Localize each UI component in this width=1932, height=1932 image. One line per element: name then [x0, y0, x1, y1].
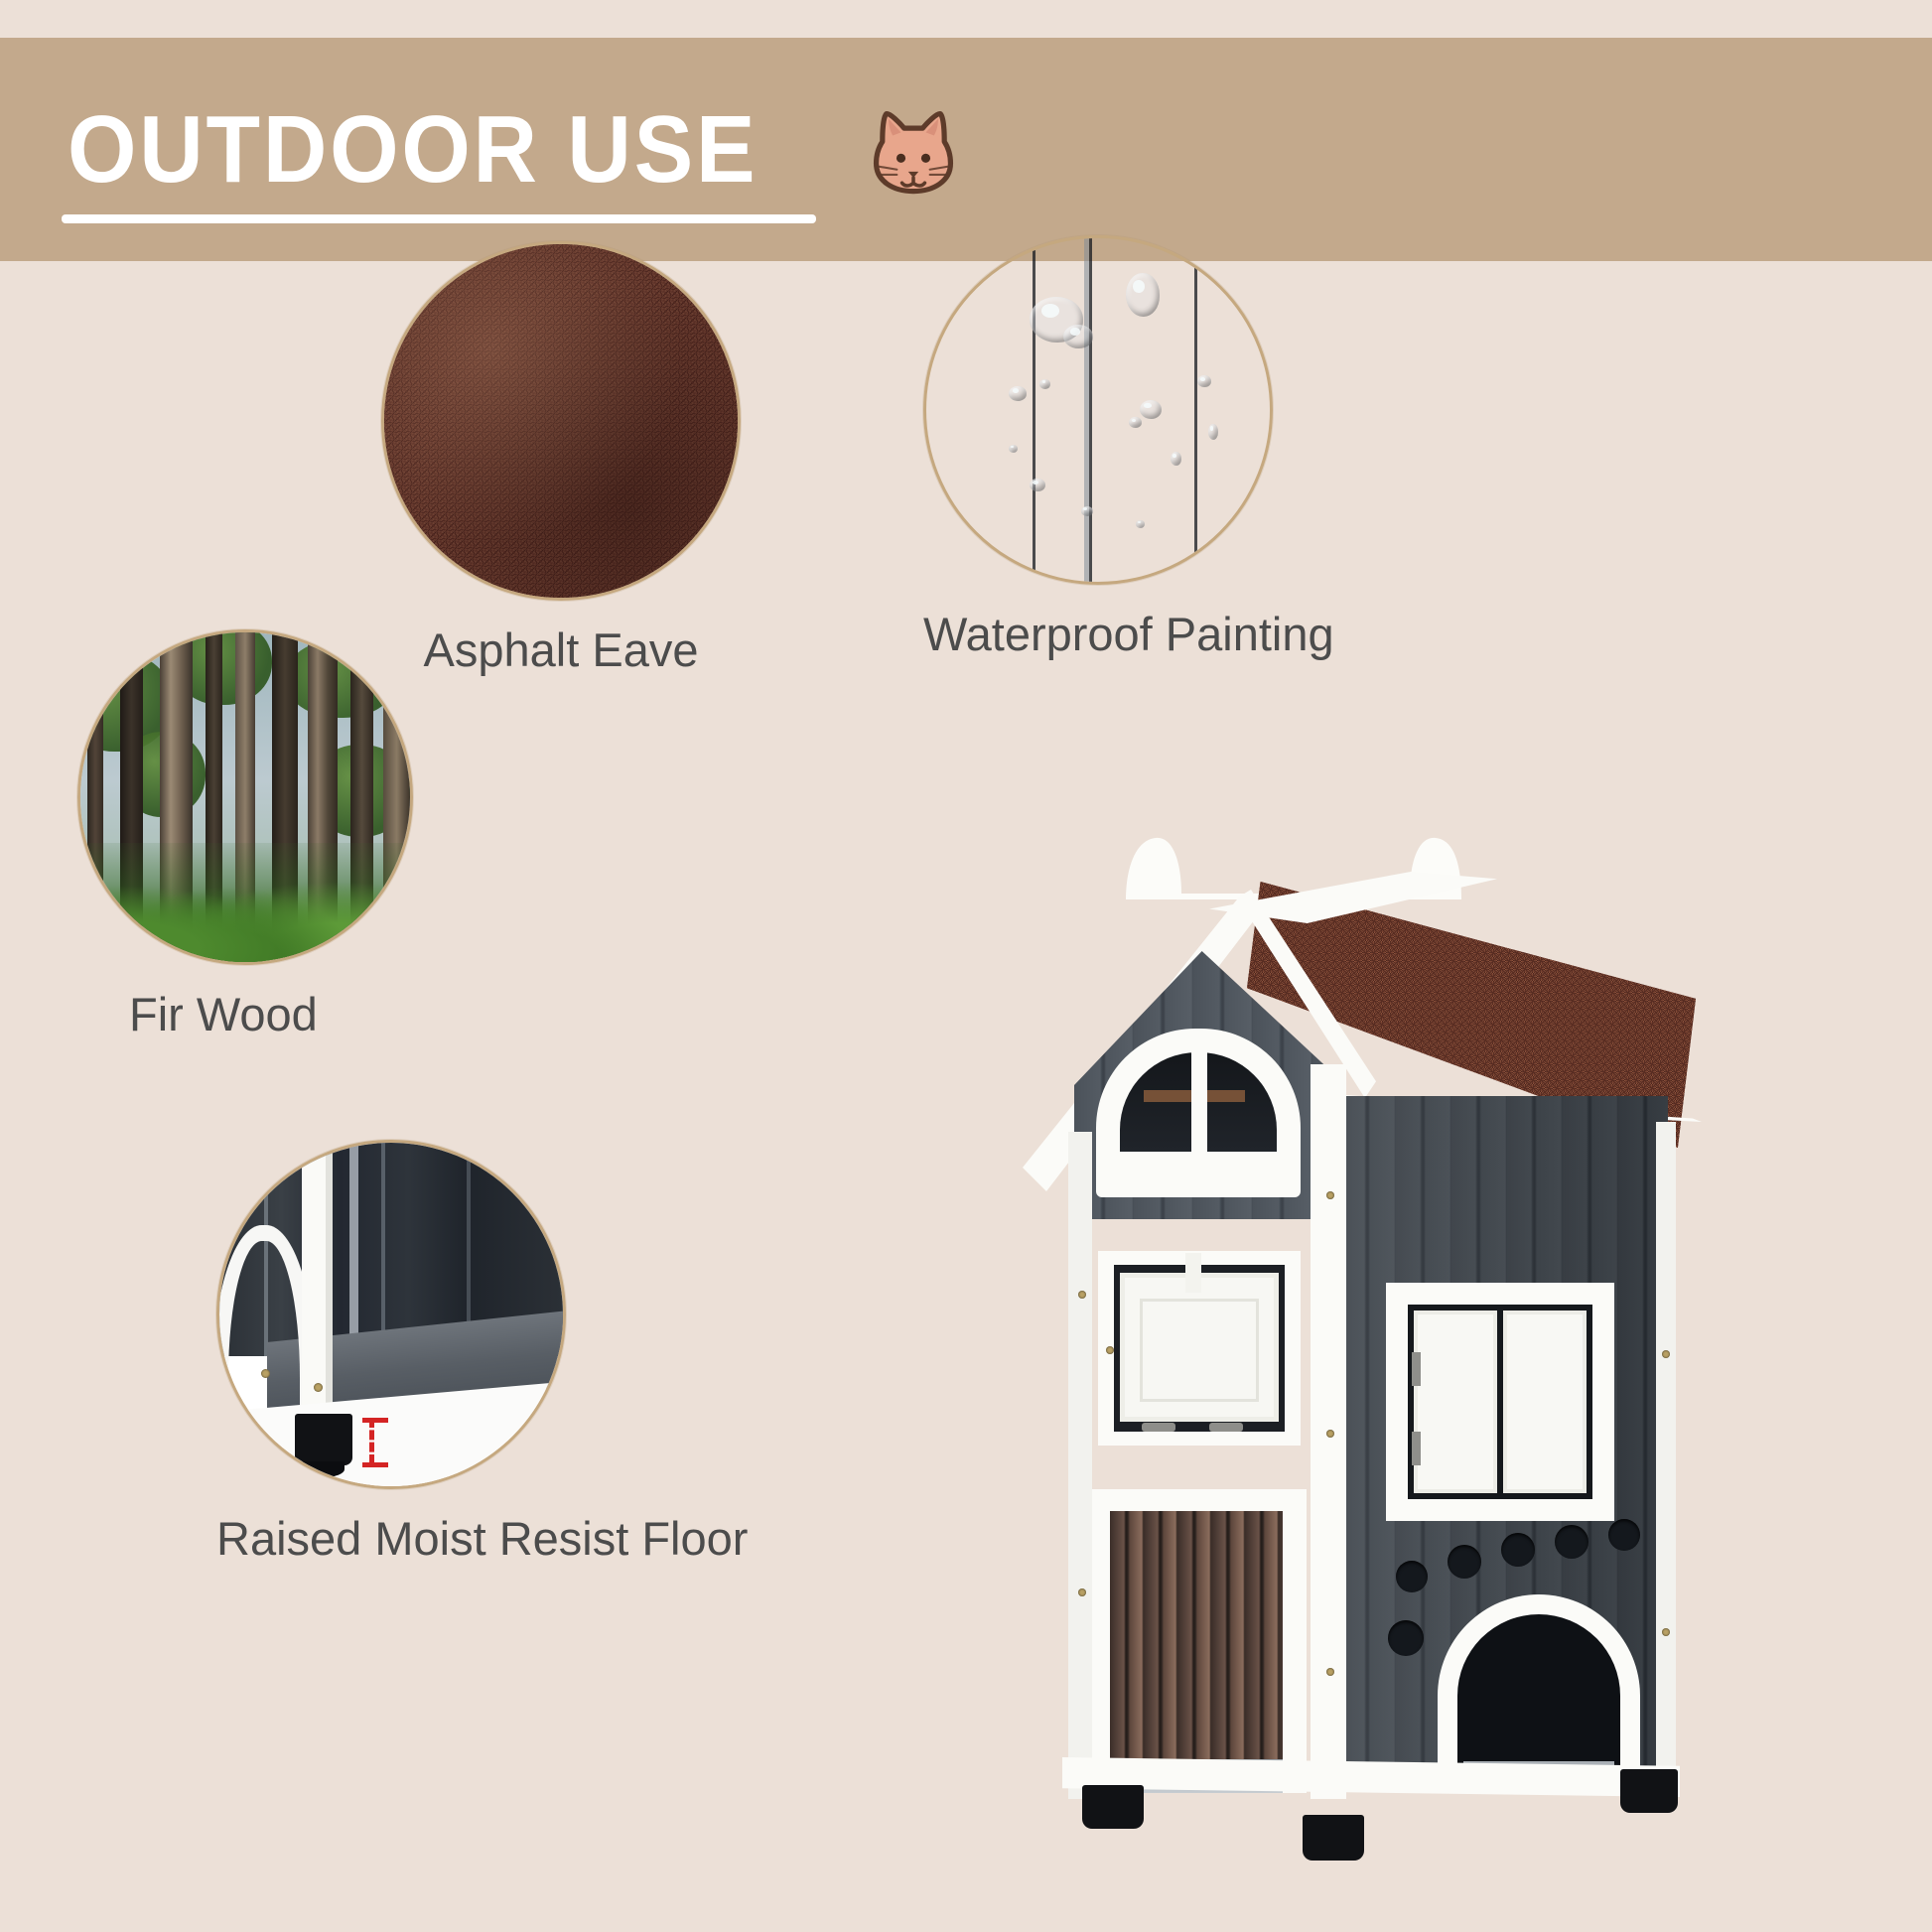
arched-cat-entrance[interactable]: [1438, 1594, 1640, 1789]
vent-hole: [1388, 1620, 1424, 1656]
hinged-white-shutter-door[interactable]: [1098, 1251, 1301, 1446]
feature-label-fir: Fir Wood: [129, 987, 413, 1041]
pvc-strip-curtain-doorway: [1086, 1489, 1307, 1793]
feature-waterproof-painting: Waterproof Painting: [923, 235, 1334, 661]
feature-label-floor: Raised Moist Resist Floor: [216, 1511, 748, 1566]
vent-hole: [1501, 1533, 1535, 1567]
fir-wood-image: [77, 629, 413, 965]
raised-floor-image: [216, 1140, 566, 1489]
vent-hole: [1608, 1519, 1640, 1551]
feature-label-waterproof: Waterproof Painting: [923, 607, 1334, 661]
feature-fir-wood: Fir Wood: [77, 629, 413, 1041]
waterproof-painting-image: [923, 235, 1273, 585]
raised-foot: [1082, 1785, 1144, 1829]
double-shutter-window[interactable]: [1386, 1283, 1614, 1521]
height-indicator-line: [369, 1418, 374, 1464]
arched-upper-window: [1096, 1029, 1301, 1197]
header-underline: [62, 214, 816, 223]
page-title: OUTDOOR USE: [68, 102, 758, 198]
right-edge-post: [1656, 1122, 1676, 1777]
vent-hole: [1555, 1525, 1588, 1559]
raised-foot: [1620, 1769, 1678, 1813]
left-edge-post: [1068, 1132, 1092, 1799]
height-indicator-cap-top: [362, 1418, 388, 1423]
header-banner: OUTDOOR USE: [0, 38, 1932, 261]
vent-hole: [1396, 1561, 1428, 1592]
header-row: OUTDOOR USE: [68, 90, 1932, 209]
raised-foot: [1303, 1815, 1364, 1861]
vent-hole: [1448, 1545, 1481, 1579]
feature-asphalt-eave: Asphalt Eave: [381, 241, 741, 677]
cat-face-icon: [862, 98, 965, 202]
height-indicator-cap-bottom: [362, 1462, 388, 1467]
feature-raised-floor: Raised Moist Resist Floor: [216, 1140, 748, 1566]
product-photo-cat-house: [1013, 834, 1708, 1837]
raised-foot: [295, 1414, 352, 1465]
asphalt-eave-image: [381, 241, 741, 601]
feature-label-asphalt: Asphalt Eave: [381, 622, 741, 677]
